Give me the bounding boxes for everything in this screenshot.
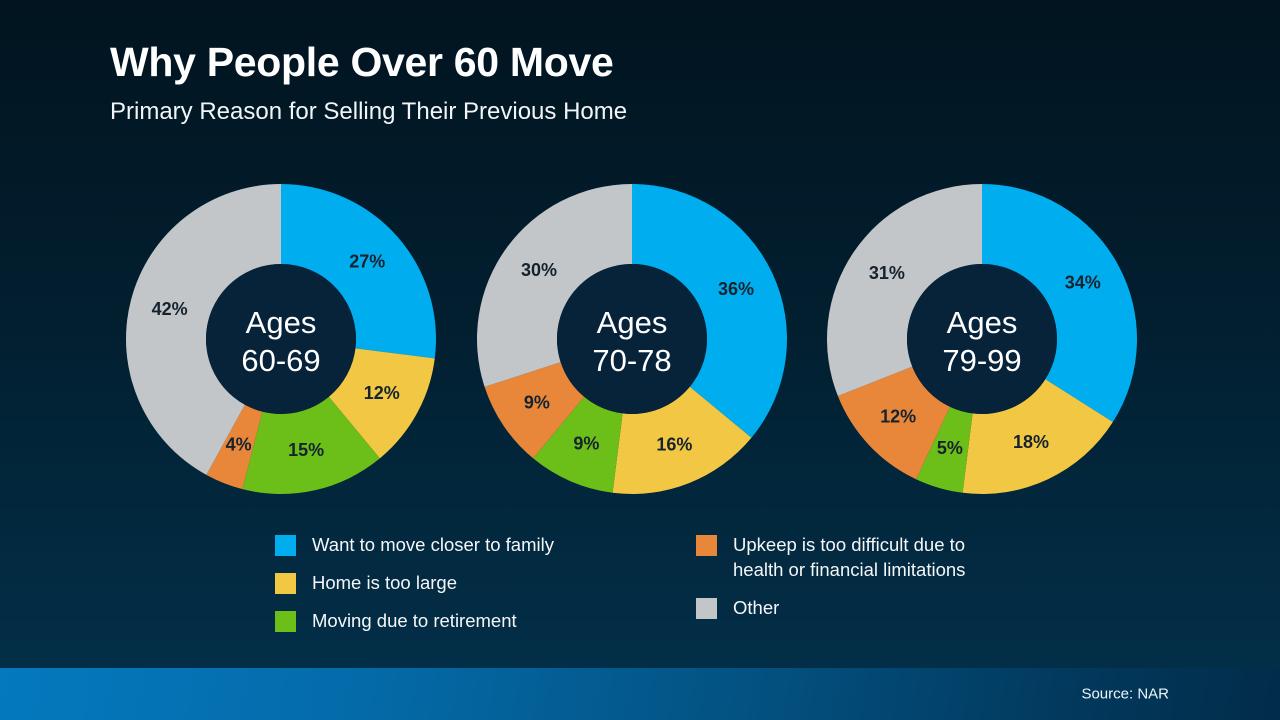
page-subtitle: Primary Reason for Selling Their Previou… bbox=[110, 98, 1110, 127]
slice-percent-label: 15% bbox=[288, 440, 324, 460]
chart-legend: Want to move closer to familyHome is too… bbox=[275, 533, 1075, 643]
legend-item[interactable]: Want to move closer to family bbox=[275, 533, 554, 558]
legend-item[interactable]: Upkeep is too difficult due to health or… bbox=[696, 533, 965, 583]
donut-svg: 34%18%5%12%31%Ages79-99 bbox=[822, 178, 1142, 508]
slice-percent-label: 27% bbox=[349, 252, 385, 272]
legend-swatch-other bbox=[696, 598, 717, 619]
slice-percent-label: 16% bbox=[656, 435, 692, 455]
donut-svg: 27%12%15%4%42%Ages60-69 bbox=[121, 178, 441, 508]
donut-chart-2: 36%16%9%9%30%Ages70-78 bbox=[472, 178, 792, 498]
legend-swatch-family bbox=[275, 535, 296, 556]
infographic-slide: Why People Over 60 Move Primary Reason f… bbox=[0, 0, 1280, 720]
slice-percent-label: 4% bbox=[226, 435, 252, 455]
legend-item-label: Moving due to retirement bbox=[312, 609, 517, 634]
legend-column-left: Want to move closer to familyHome is too… bbox=[275, 533, 554, 647]
legend-column-right: Upkeep is too difficult due to health or… bbox=[696, 533, 965, 634]
page-title: Why People Over 60 Move bbox=[110, 40, 1110, 86]
legend-item-label: Upkeep is too difficult due to health or… bbox=[733, 533, 965, 583]
legend-item[interactable]: Home is too large bbox=[275, 571, 554, 596]
donut-hub-label-line: Ages bbox=[246, 305, 317, 340]
slice-percent-label: 18% bbox=[1013, 432, 1049, 452]
slice-percent-label: 42% bbox=[152, 299, 188, 319]
source-attribution: Source: NAR bbox=[1081, 686, 1169, 703]
footer-bar: Source: NAR bbox=[0, 668, 1280, 720]
header: Why People Over 60 Move Primary Reason f… bbox=[110, 40, 1110, 127]
legend-swatch-retirement bbox=[275, 611, 296, 632]
donut-chart-1: 27%12%15%4%42%Ages60-69 bbox=[121, 178, 441, 498]
slice-percent-label: 12% bbox=[880, 406, 916, 426]
slice-percent-label: 31% bbox=[869, 263, 905, 283]
legend-swatch-home-too-large bbox=[275, 573, 296, 594]
donut-hub-label-line: Ages bbox=[597, 305, 668, 340]
donut-hub-label-line: 70-78 bbox=[592, 343, 671, 378]
slice-percent-label: 30% bbox=[521, 260, 557, 280]
legend-item[interactable]: Moving due to retirement bbox=[275, 609, 554, 634]
donut-chart-group: 27%12%15%4%42%Ages60-6936%16%9%9%30%Ages… bbox=[0, 178, 1280, 508]
slice-percent-label: 9% bbox=[573, 433, 599, 453]
slice-percent-label: 34% bbox=[1065, 272, 1101, 292]
donut-hub-label-line: 79-99 bbox=[942, 343, 1021, 378]
donut-chart-3: 34%18%5%12%31%Ages79-99 bbox=[822, 178, 1142, 498]
slice-percent-label: 12% bbox=[364, 383, 400, 403]
legend-swatch-upkeep bbox=[696, 535, 717, 556]
slice-percent-label: 5% bbox=[937, 438, 963, 458]
legend-item-label: Want to move closer to family bbox=[312, 533, 554, 558]
donut-hub-label-line: Ages bbox=[947, 305, 1018, 340]
donut-svg: 36%16%9%9%30%Ages70-78 bbox=[472, 178, 792, 508]
legend-item[interactable]: Other bbox=[696, 596, 965, 621]
legend-item-label: Other bbox=[733, 596, 779, 621]
slice-percent-label: 9% bbox=[524, 392, 550, 412]
donut-hub-label-line: 60-69 bbox=[241, 343, 320, 378]
slice-percent-label: 36% bbox=[718, 279, 754, 299]
legend-item-label: Home is too large bbox=[312, 571, 457, 596]
